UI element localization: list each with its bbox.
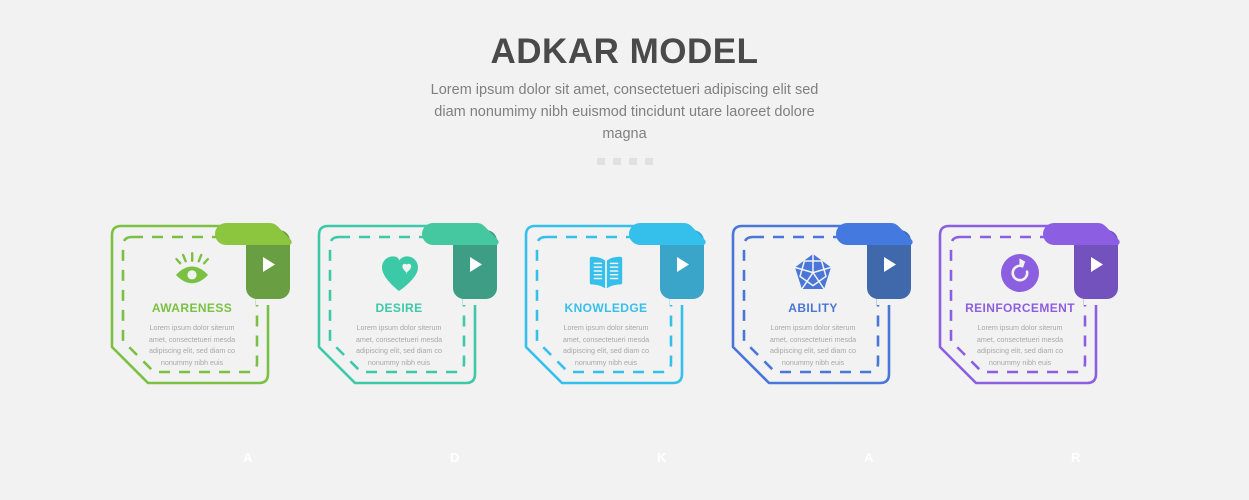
card-content: AWARENESS Lorem ipsum dolor siterum amet… [108,222,276,387]
page-header: ADKAR MODEL Lorem ipsum dolor sit amet, … [0,34,1249,165]
adkar-card[interactable]: REINFORCEMENT Lorem ipsum dolor siterum … [936,222,1141,387]
card-content: REINFORCEMENT Lorem ipsum dolor siterum … [936,222,1104,387]
adkar-card[interactable]: AWARENESS Lorem ipsum dolor siterum amet… [108,222,313,387]
card-letter: K [657,450,666,465]
card-body-text: Lorem ipsum dolor siterum amet, consecte… [140,322,244,369]
card-body-text: Lorem ipsum dolor siterum amet, consecte… [554,322,658,369]
card-body-text: Lorem ipsum dolor siterum amet, consecte… [347,322,451,369]
card-letter: A [243,450,252,465]
card-letter: R [1071,450,1080,465]
decorative-dots [0,158,1249,165]
book-icon [584,251,628,295]
adkar-cards-row: AWARENESS Lorem ipsum dolor siterum amet… [0,222,1249,392]
card-heading: ABILITY [788,301,837,315]
adkar-card[interactable]: ABILITY Lorem ipsum dolor siterum amet, … [729,222,934,387]
decorative-dot [613,158,621,165]
card-heading: KNOWLEDGE [565,301,648,315]
card-letter: A [864,450,873,465]
card-body-text: Lorem ipsum dolor siterum amet, consecte… [968,322,1072,369]
adkar-card[interactable]: DESIRE Lorem ipsum dolor siterum amet, c… [315,222,520,387]
pentagon-gem-icon [791,251,835,295]
eye-icon [170,251,214,295]
decorative-dot [597,158,605,165]
card-heading: DESIRE [375,301,422,315]
decorative-dot [645,158,653,165]
page-title: ADKAR MODEL [0,34,1249,69]
heart-icon [377,251,421,295]
card-heading: REINFORCEMENT [965,301,1075,315]
card-content: KNOWLEDGE Lorem ipsum dolor siterum amet… [522,222,690,387]
card-body-text: Lorem ipsum dolor siterum amet, consecte… [761,322,865,369]
card-content: DESIRE Lorem ipsum dolor siterum amet, c… [315,222,483,387]
adkar-card[interactable]: KNOWLEDGE Lorem ipsum dolor siterum amet… [522,222,727,387]
card-letter: D [450,450,459,465]
card-heading: AWARENESS [152,301,232,315]
refresh-icon [998,251,1042,295]
decorative-dot [629,158,637,165]
card-content: ABILITY Lorem ipsum dolor siterum amet, … [729,222,897,387]
page-subtitle: Lorem ipsum dolor sit amet, consectetuer… [415,79,835,145]
